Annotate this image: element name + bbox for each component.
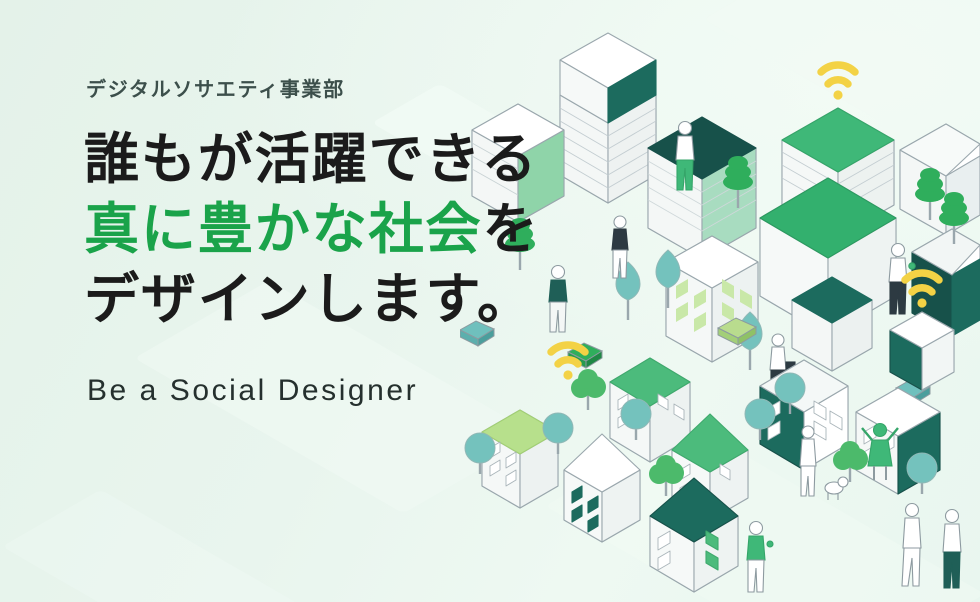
headline-line-2-tail: を <box>482 198 539 260</box>
person <box>902 504 921 587</box>
tagline: Be a Social Designer <box>87 376 604 406</box>
headline-line-1: 誰もが活躍できる <box>84 130 604 189</box>
background-plate <box>2 490 298 602</box>
person <box>943 510 961 589</box>
hero-copy: デジタルソサエティ事業部 誰もが活躍できる 真に豊かな社会を デザインします。 … <box>84 80 604 406</box>
hero-banner: デジタルソサエティ事業部 誰もが活躍できる 真に豊かな社会を デザインします。 … <box>0 0 980 602</box>
department-eyebrow: デジタルソサエティ事業部 <box>86 80 604 100</box>
page-title: 誰もが活躍できる 真に豊かな社会を デザインします。 <box>84 130 604 329</box>
headline-line-2: 真に豊かな社会を <box>84 200 604 259</box>
wifi-icon <box>821 65 855 100</box>
person <box>747 522 773 593</box>
dog-icon <box>825 477 848 500</box>
headline-accent-text: 真に豊かな社会 <box>84 198 482 260</box>
person <box>612 216 628 278</box>
headline-line-3: デザインします。 <box>84 270 604 329</box>
